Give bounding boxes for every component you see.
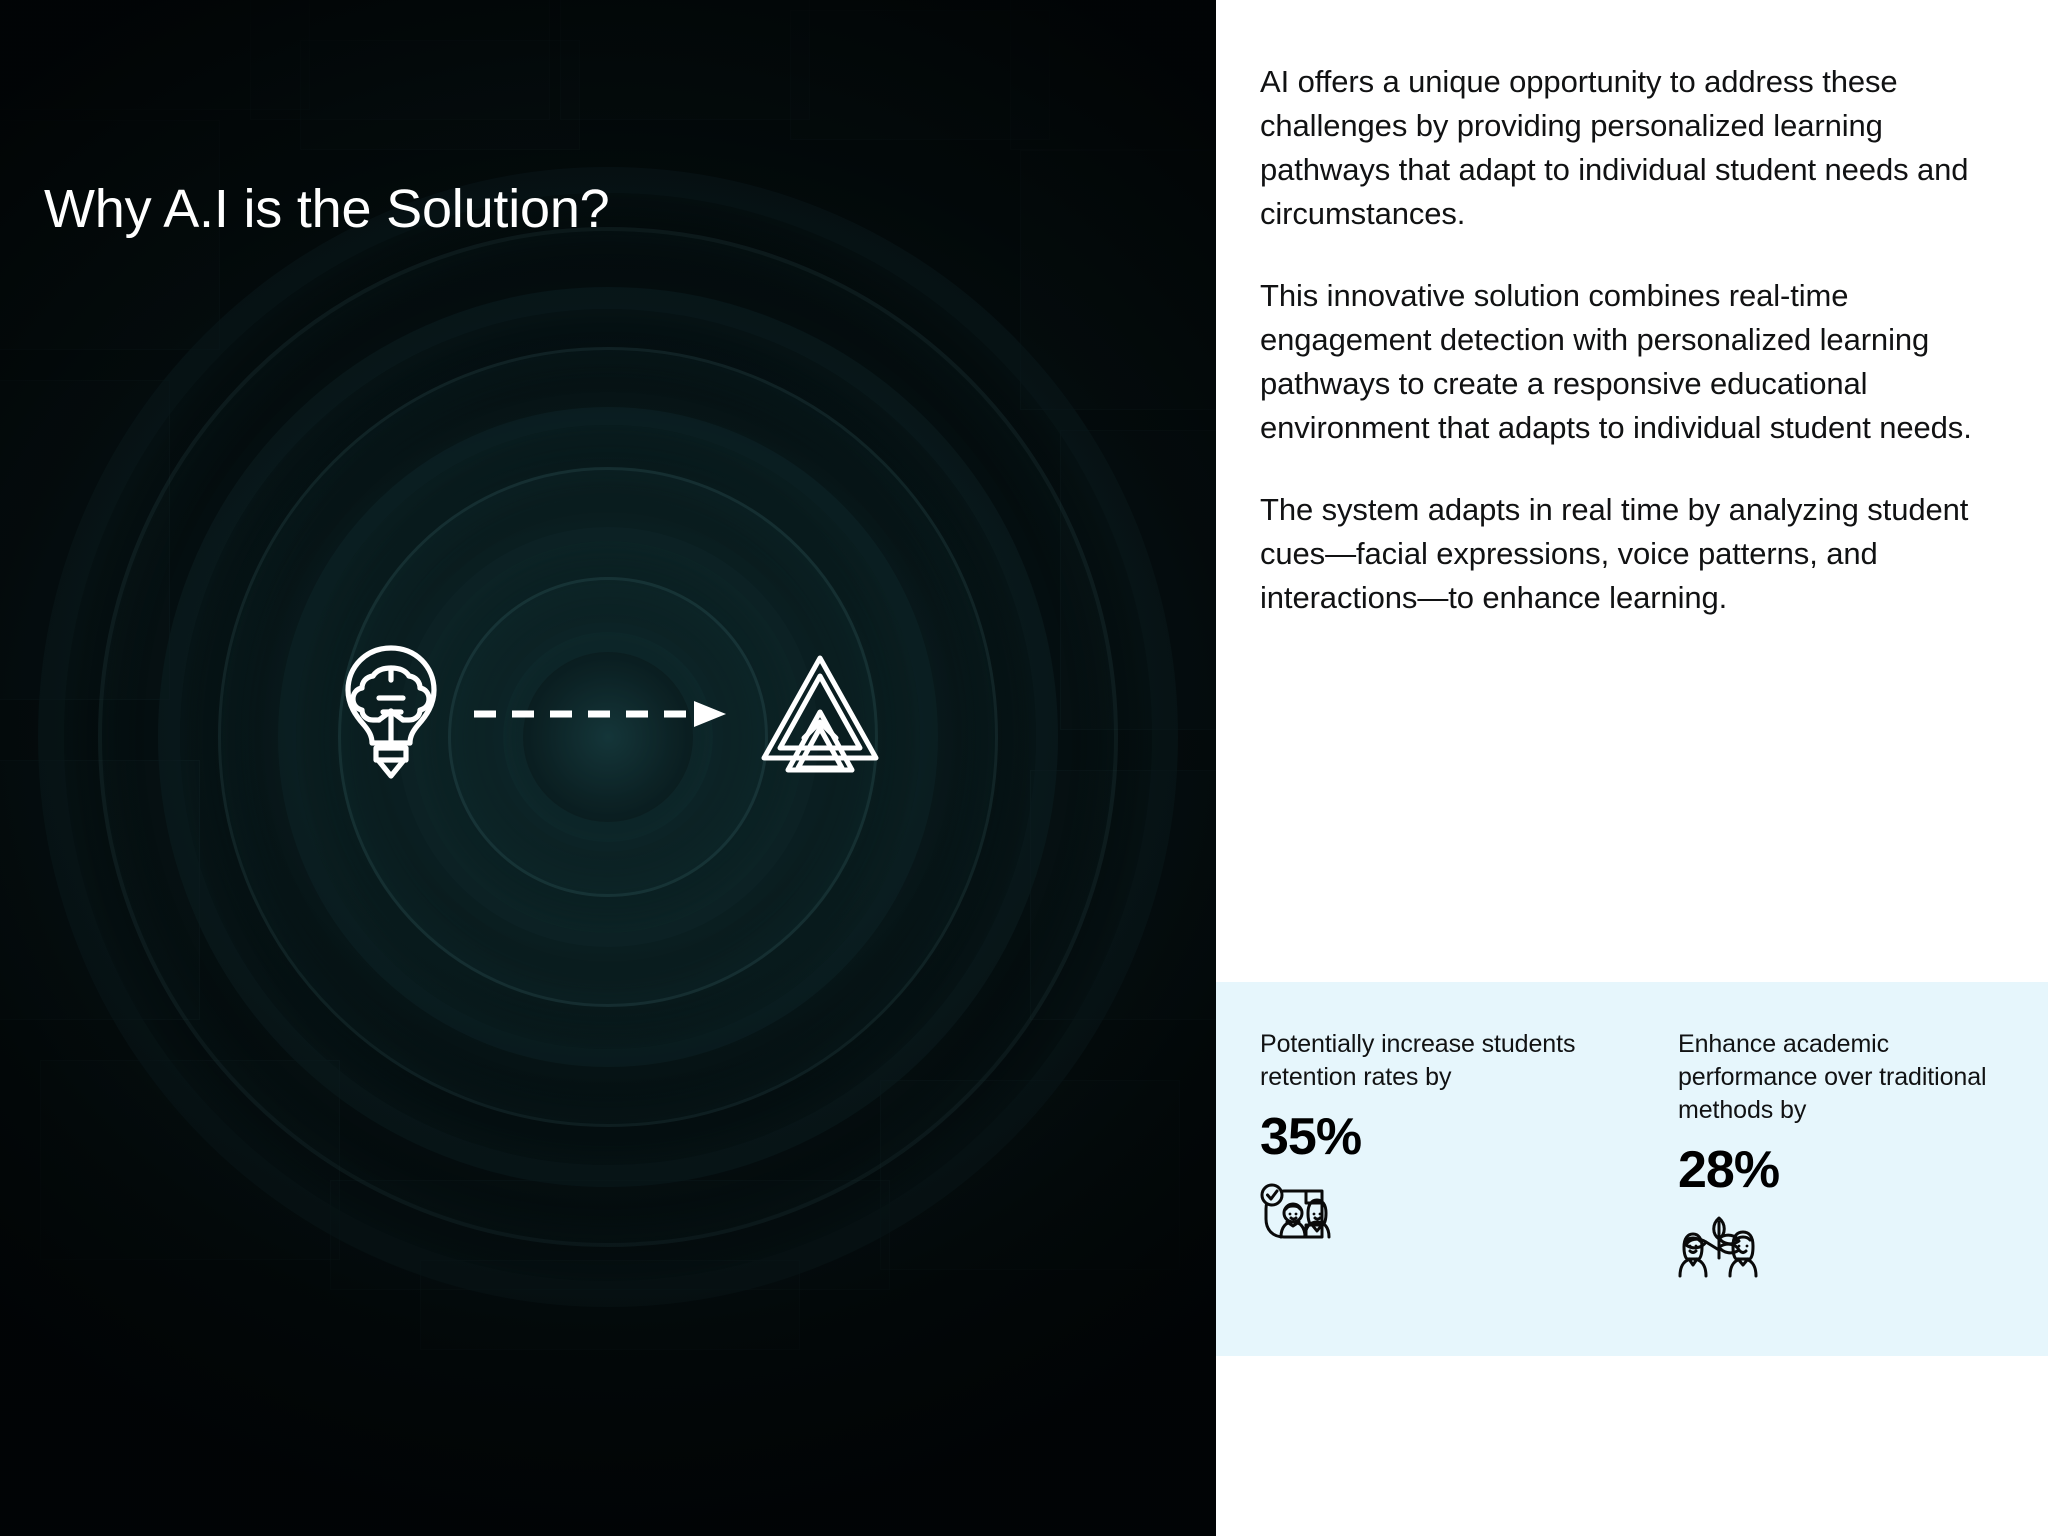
paragraph-3: The system adapts in real time by analyz… (1260, 488, 2000, 620)
left-visual-panel: Why A.I is the Solution? (0, 0, 1216, 1536)
page-title: Why A.I is the Solution? (44, 178, 610, 240)
lightbulb-brain-icon (332, 640, 450, 793)
slide-root: Why A.I is the Solution? (0, 0, 2048, 1536)
stat-label: Potentially increase students retention … (1260, 1028, 1606, 1094)
ai-triangle-logo-icon (756, 650, 884, 783)
stat-value: 35% (1260, 1110, 1606, 1165)
students-retention-check-icon (1260, 1181, 1606, 1252)
stat-label: Enhance academic performance over tradit… (1678, 1028, 2022, 1127)
students-growth-plant-icon (1678, 1214, 2022, 1285)
concept-flow-diagram (0, 640, 1216, 793)
paragraph-2: This innovative solution combines real-t… (1260, 274, 2000, 450)
stat-value: 28% (1678, 1143, 2022, 1198)
right-content-panel: AI offers a unique opportunity to addres… (1216, 0, 2048, 1536)
paragraph-1: AI offers a unique opportunity to addres… (1260, 60, 2000, 236)
stat-card-performance: Enhance academic performance over tradit… (1632, 982, 2048, 1356)
body-copy: AI offers a unique opportunity to addres… (1260, 60, 2000, 620)
stat-card-retention: Potentially increase students retention … (1216, 982, 1632, 1356)
stats-band: Potentially increase students retention … (1216, 982, 2048, 1356)
dashed-arrow-right-icon (472, 697, 734, 736)
